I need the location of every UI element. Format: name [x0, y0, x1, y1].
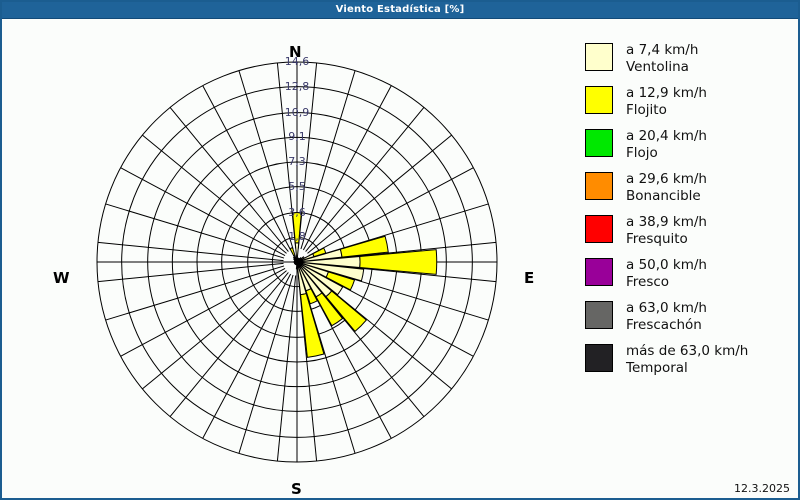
legend-item[interactable]: a 63,0 km/hFrescachón: [585, 300, 795, 334]
radial-tick-label: 1,8: [280, 230, 314, 243]
legend-item[interactable]: a 20,4 km/hFlojo: [585, 128, 795, 162]
legend-speed-label: a 63,0 km/h: [626, 300, 707, 316]
radial-tick-label: 3,6: [280, 206, 314, 219]
legend-item[interactable]: a 29,6 km/hBonancible: [585, 171, 795, 205]
legend-speed-label: a 29,6 km/h: [626, 171, 707, 187]
legend-item[interactable]: a 12,9 km/hFlojito: [585, 85, 795, 119]
legend: a 7,4 km/hVentolinaa 12,9 km/hFlojitoa 2…: [585, 42, 795, 386]
legend-category-label: Bonancible: [626, 188, 707, 205]
legend-item[interactable]: a 50,0 km/hFresco: [585, 257, 795, 291]
legend-label: a 63,0 km/hFrescachón: [626, 300, 707, 334]
windrose-plot: N E S W 1,83,65,57,39,110,912,814,6: [2, 19, 572, 479]
legend-category-label: Flojo: [626, 145, 707, 162]
legend-label: a 20,4 km/hFlojo: [626, 128, 707, 162]
legend-item[interactable]: a 7,4 km/hVentolina: [585, 42, 795, 76]
legend-category-label: Ventolina: [626, 59, 698, 76]
window-title-bar: Viento Estadística [%]: [2, 2, 798, 19]
legend-label: a 50,0 km/hFresco: [626, 257, 707, 291]
legend-label: más de 63,0 km/hTemporal: [626, 343, 748, 377]
legend-category-label: Fresquito: [626, 231, 707, 248]
legend-color-swatch: [585, 172, 613, 200]
radial-tick-label: 12,8: [280, 80, 314, 93]
radial-tick-label: 10,9: [280, 106, 314, 119]
legend-speed-label: a 20,4 km/h: [626, 128, 707, 144]
legend-color-swatch: [585, 43, 613, 71]
legend-label: a 38,9 km/hFresquito: [626, 214, 707, 248]
legend-speed-label: más de 63,0 km/h: [626, 343, 748, 359]
compass-label-east: E: [524, 269, 534, 287]
legend-color-swatch: [585, 86, 613, 114]
radial-tick-label: 14,6: [280, 55, 314, 68]
legend-color-swatch: [585, 215, 613, 243]
legend-category-label: Frescachón: [626, 317, 707, 334]
legend-label: a 12,9 km/hFlojito: [626, 85, 707, 119]
compass-label-west: W: [53, 269, 70, 287]
legend-color-swatch: [585, 129, 613, 157]
legend-speed-label: a 50,0 km/h: [626, 257, 707, 273]
legend-speed-label: a 7,4 km/h: [626, 42, 698, 58]
legend-category-label: Fresco: [626, 274, 707, 291]
legend-item[interactable]: más de 63,0 km/hTemporal: [585, 343, 795, 377]
radial-tick-label: 5,5: [280, 180, 314, 193]
legend-label: a 29,6 km/hBonancible: [626, 171, 707, 205]
window-root: Viento Estadística [%] N E S W 1,83,65,5…: [0, 0, 800, 500]
legend-item[interactable]: a 38,9 km/hFresquito: [585, 214, 795, 248]
legend-category-label: Flojito: [626, 102, 707, 119]
compass-label-south: S: [291, 480, 302, 498]
radial-tick-label: 7,3: [280, 155, 314, 168]
date-stamp: 12.3.2025: [734, 482, 790, 495]
legend-color-swatch: [585, 301, 613, 329]
legend-color-swatch: [585, 344, 613, 372]
legend-category-label: Temporal: [626, 360, 748, 377]
legend-color-swatch: [585, 258, 613, 286]
legend-label: a 7,4 km/hVentolina: [626, 42, 698, 76]
legend-speed-label: a 12,9 km/h: [626, 85, 707, 101]
radial-tick-label: 9,1: [280, 130, 314, 143]
window-title: Viento Estadística [%]: [2, 2, 798, 18]
legend-speed-label: a 38,9 km/h: [626, 214, 707, 230]
